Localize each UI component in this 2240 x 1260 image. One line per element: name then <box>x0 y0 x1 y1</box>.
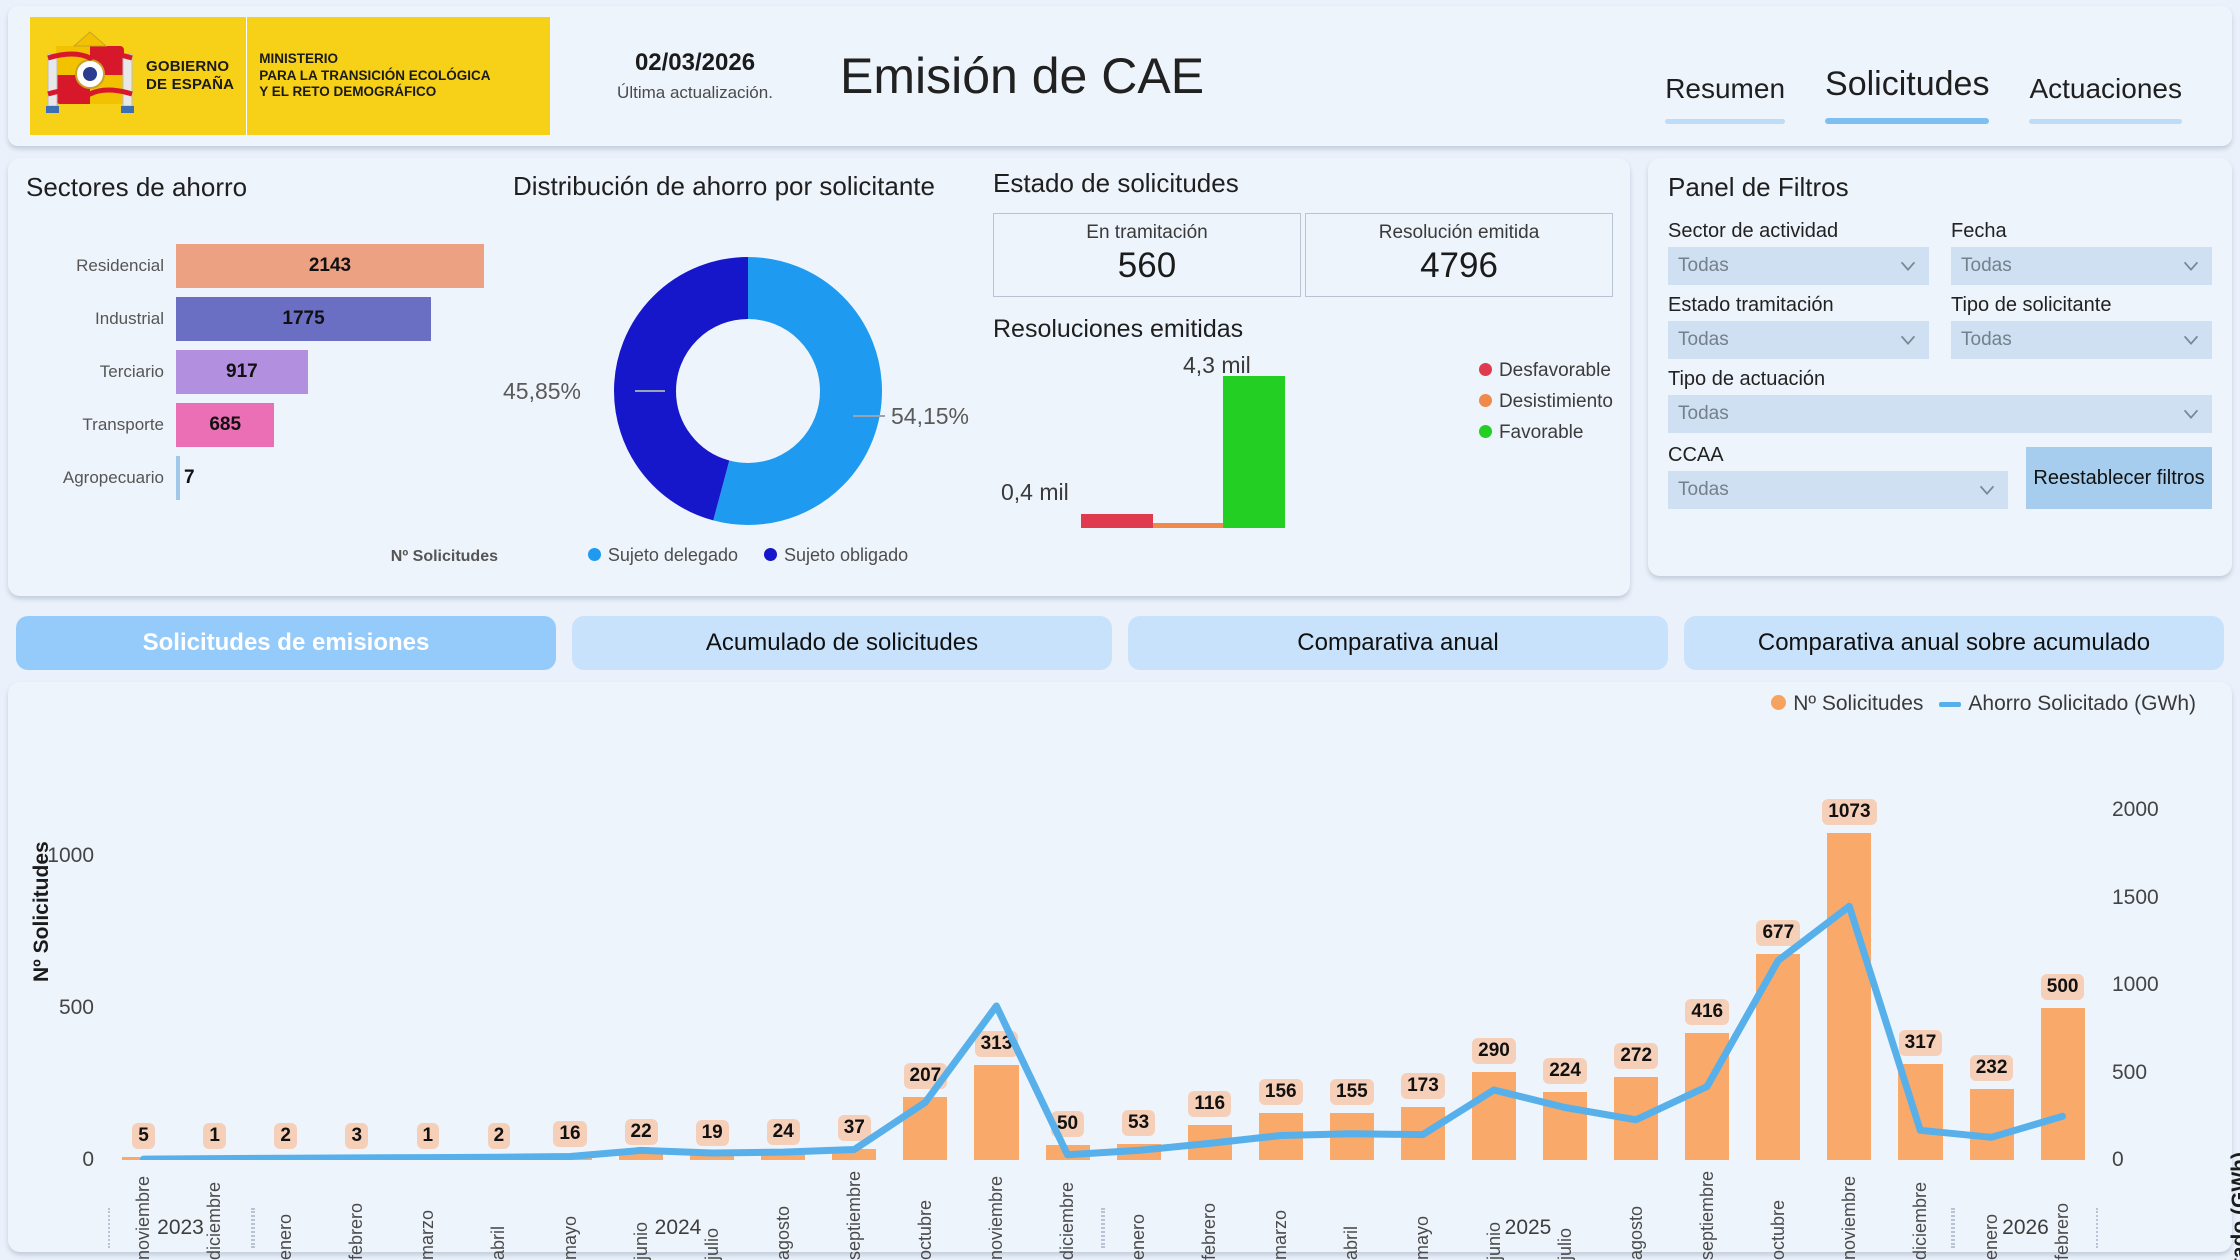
bar-column[interactable]: 313 <box>961 810 1032 1160</box>
donut-chart: 45,85% 54,15% <box>513 246 983 536</box>
bar-column[interactable]: 50 <box>1032 810 1103 1160</box>
bar-fill <box>619 1153 663 1160</box>
sector-row: Residencial2143 <box>26 243 516 289</box>
filter-ccaa-label: CCAA <box>1668 444 2008 467</box>
government-logo: GOBIERNO DE ESPAÑA MINISTERIO PARA LA TR… <box>30 17 550 135</box>
bar-fill <box>1614 1077 1658 1160</box>
bar-value-label: 53 <box>1122 1110 1155 1136</box>
chevron-down-icon <box>1897 255 1919 277</box>
bar-value-label: 116 <box>1188 1091 1231 1117</box>
bar-column[interactable]: 24 <box>748 810 819 1160</box>
bar-column[interactable]: 22 <box>606 810 677 1160</box>
filter-estado-tramitacion-select[interactable]: Todas <box>1668 321 1929 359</box>
kpi-en-tramitacion: En tramitación 560 <box>993 213 1301 297</box>
bar-fill <box>1330 1113 1374 1160</box>
bar-favorable <box>1223 376 1285 528</box>
filter-fecha-select[interactable]: Todas <box>1951 247 2212 285</box>
bar-value-label: 24 <box>767 1119 800 1145</box>
kpi-resolucion-emitida-label: Resolución emitida <box>1306 222 1612 244</box>
bar-fill <box>1472 1072 1516 1160</box>
logo-divider <box>246 17 247 135</box>
reset-filters-button[interactable]: Reestablecer filtros <box>2026 447 2212 509</box>
bar-value-label: 16 <box>553 1121 586 1147</box>
bar-fill <box>1117 1144 1161 1160</box>
chevron-down-icon <box>2180 403 2202 425</box>
bar-column[interactable]: 5 <box>108 810 179 1160</box>
ministerio-label: MINISTERIO PARA LA TRANSICIÓN ECOLÓGICA … <box>259 51 490 102</box>
y-tick-right: 1500 <box>2112 886 2159 910</box>
filter-sector-actividad: Sector de actividad Todas <box>1668 213 1929 285</box>
bar-column[interactable]: 116 <box>1174 810 1245 1160</box>
y-tick-right: 1000 <box>2112 973 2159 997</box>
tab-resumen-underline <box>1665 119 1785 124</box>
bar-column[interactable]: 224 <box>1530 810 1601 1160</box>
bar-fill <box>974 1065 1018 1160</box>
dashboard-root: GOBIERNO DE ESPAÑA MINISTERIO PARA LA TR… <box>0 0 2240 1260</box>
bar-value-label: 22 <box>625 1119 658 1145</box>
sectores-de-ahorro-card: Sectores de ahorro Residencial2143Indust… <box>26 172 516 572</box>
donut-title: Distribución de ahorro por solicitante <box>513 172 983 202</box>
bar-value-label: 1 <box>417 1123 440 1149</box>
main-chart-legend: Nº Solicitudes Ahorro Solicitado (GWh) <box>1771 692 2196 716</box>
sector-value: 2143 <box>309 255 351 277</box>
resoluciones-bars <box>1081 368 1341 528</box>
bar-value-label: 3 <box>345 1123 368 1149</box>
label-high: 4,3 mil <box>1183 352 1251 379</box>
donut-label-right: 54,15% <box>891 403 969 430</box>
filter-fecha-label: Fecha <box>1951 220 2212 243</box>
bar-column[interactable]: 416 <box>1672 810 1743 1160</box>
bar-column[interactable]: 677 <box>1743 810 1814 1160</box>
legend-item-desistimiento[interactable]: Desistimiento <box>1479 387 1613 418</box>
y-tick-left: 0 <box>82 1148 94 1172</box>
bar-column[interactable]: 232 <box>1956 810 2027 1160</box>
filter-tipo-actuacion-label: Tipo de actuación <box>1668 368 2212 391</box>
sector-row: Transporte685 <box>26 402 516 448</box>
filter-tipo-actuacion: Tipo de actuación Todas <box>1668 361 2212 433</box>
page-title: Emisión de CAE <box>840 47 1204 105</box>
sector-label: Agropecuario <box>26 468 176 488</box>
sector-bar[interactable]: 917 <box>176 350 308 394</box>
bar-fill <box>761 1153 805 1160</box>
filter-ccaa-select[interactable]: Todas <box>1668 471 2008 509</box>
bar-column[interactable]: 53 <box>1103 810 1174 1160</box>
estado-title: Estado de solicitudes <box>993 168 1613 199</box>
tab-solicitudes-underline <box>1825 118 1989 124</box>
filter-estado-tramitacion: Estado tramitación Todas <box>1668 287 1929 359</box>
chevron-down-icon <box>2180 329 2202 351</box>
bar-series: 5123121622192437207313505311615615517329… <box>108 810 2098 1160</box>
donut-label-left: 45,85% <box>503 378 581 405</box>
sector-label: Terciario <box>26 362 176 382</box>
kpi-en-tramitacion-label: En tramitación <box>994 222 1300 244</box>
bar-value-label: 224 <box>1543 1058 1587 1084</box>
resoluciones-chart: Desfavorable Desistimiento Favorable 0,4… <box>993 348 1613 528</box>
sector-label: Residencial <box>26 256 176 276</box>
sector-row: Industrial1775 <box>26 296 516 342</box>
estado-kpis: En tramitación 560 Resolución emitida 47… <box>993 213 1613 297</box>
bar-value-label: 500 <box>2041 974 2085 1000</box>
sector-row: Terciario917 <box>26 349 516 395</box>
bar-value-label: 173 <box>1401 1073 1445 1099</box>
legend-item-ahorro-solicitado[interactable]: Ahorro Solicitado (GWh) <box>1939 692 2196 716</box>
distribucion-ahorro-card: Distribución de ahorro por solicitante 4… <box>513 172 983 572</box>
bar-value-label: 232 <box>1970 1055 2014 1081</box>
bar-fill <box>1259 1113 1303 1160</box>
bar-value-label: 207 <box>904 1063 948 1089</box>
sector-label: Transporte <box>26 415 176 435</box>
bar-column[interactable]: 19 <box>677 810 748 1160</box>
sector-bar[interactable]: 1775 <box>176 297 431 341</box>
year-group-label: 2024 <box>253 1208 1103 1248</box>
tab-actuaciones-underline <box>2029 119 2182 124</box>
resoluciones-legend: Desfavorable Desistimiento Favorable <box>1479 356 1613 448</box>
y-tick-right: 2000 <box>2112 798 2159 822</box>
sector-label: Industrial <box>26 309 176 329</box>
tab-solicitudes-label: Solicitudes <box>1825 65 1989 118</box>
sector-row: Agropecuario7 <box>26 455 516 501</box>
bar-column[interactable]: 173 <box>1387 810 1458 1160</box>
bar-value-label: 416 <box>1685 999 1729 1025</box>
bar-column[interactable]: 272 <box>1601 810 1672 1160</box>
bar-desistimiento <box>1153 523 1223 528</box>
sector-value: 917 <box>226 361 258 383</box>
last-update-caption: Última actualización. <box>590 83 800 103</box>
chevron-down-icon <box>1976 479 1998 501</box>
filter-tipo-solicitante-label: Tipo de solicitante <box>1951 294 2212 317</box>
bar-fill <box>1046 1145 1090 1160</box>
donut-legend-item-obligado[interactable]: Sujeto obligado <box>764 545 908 566</box>
filter-tipo-actuacion-select[interactable]: Todas <box>1668 395 2212 433</box>
filter-ccaa: CCAA Todas <box>1668 437 2008 509</box>
filters-grid: Sector de actividad Todas Fecha Todas Es… <box>1668 213 2212 433</box>
bar-value-label: 155 <box>1330 1079 1374 1105</box>
resoluciones-title: Resoluciones emitidas <box>993 315 1613 344</box>
bar-column[interactable]: 156 <box>1245 810 1316 1160</box>
tab-actuaciones[interactable]: Actuaciones <box>2009 73 2202 138</box>
bar-column[interactable]: 1 <box>179 810 250 1160</box>
bar-fill <box>2041 1008 2085 1160</box>
sector-value: 7 <box>184 467 195 489</box>
bar-value-label: 2 <box>274 1123 297 1149</box>
bar-value-label: 37 <box>838 1115 871 1141</box>
bar-column[interactable]: 16 <box>534 810 605 1160</box>
bar-value-label: 2 <box>488 1123 511 1149</box>
y-tick-left: 1000 <box>47 844 94 868</box>
filters-title: Panel de Filtros <box>1668 172 2212 203</box>
donut-svg <box>513 246 983 536</box>
tab-solicitudes[interactable]: Solicitudes <box>1805 65 2009 138</box>
bar-column[interactable]: 2 <box>250 810 321 1160</box>
app-header: GOBIERNO DE ESPAÑA MINISTERIO PARA LA TR… <box>8 6 2232 146</box>
top-tabs: Resumen Solicitudes Actuaciones <box>1645 65 2202 138</box>
bar-column[interactable]: 290 <box>1458 810 1529 1160</box>
chart-tab-acumulado-solicitudes[interactable]: Acumulado de solicitudes <box>572 616 1112 670</box>
tab-actuaciones-label: Actuaciones <box>2029 73 2182 119</box>
filter-tipo-solicitante-select[interactable]: Todas <box>1951 321 2212 359</box>
sector-bar[interactable]: 2143 <box>176 244 484 288</box>
chart-tab-solicitudes-emisiones[interactable]: Solicitudes de emisiones <box>16 616 556 670</box>
sectores-axis-caption: Nº Solicitudes <box>391 548 498 566</box>
bar-fill <box>1970 1089 2014 1160</box>
bar-column[interactable]: 2 <box>463 810 534 1160</box>
chevron-down-icon <box>1897 329 1919 351</box>
y-tick-right: 500 <box>2112 1061 2147 1085</box>
filters-bottom-row: CCAA Todas Reestablecer filtros <box>1668 437 2212 509</box>
bar-column[interactable]: 1 <box>392 810 463 1160</box>
filters-panel: Panel de Filtros Sector de actividad Tod… <box>1648 158 2232 576</box>
estado-solicitudes-card: Estado de solicitudes En tramitación 560… <box>993 168 1613 578</box>
bar-fill <box>832 1149 876 1160</box>
y-tick-right: 0 <box>2112 1148 2124 1172</box>
legend-item-desfavorable[interactable]: Desfavorable <box>1479 356 1613 387</box>
bar-value-label: 1 <box>203 1123 226 1149</box>
bar-column[interactable]: 155 <box>1316 810 1387 1160</box>
y-tick-left: 500 <box>59 996 94 1020</box>
bar-value-label: 317 <box>1899 1030 1943 1056</box>
bar-value-label: 1073 <box>1822 799 1876 825</box>
chart-tab-bar: Solicitudes de emisiones Acumulado de so… <box>16 616 2224 670</box>
main-chart-panel: Nº Solicitudes Ahorro Solicitado (GWh) N… <box>8 682 2232 1252</box>
bar-column[interactable]: 1073 <box>1814 810 1885 1160</box>
legend-item-favorable[interactable]: Favorable <box>1479 418 1613 449</box>
chart-tab-comparativa-anual-acumulado[interactable]: Comparativa anual sobre acumulado <box>1684 616 2224 670</box>
spain-coat-of-arms-icon <box>44 24 136 128</box>
bar-fill <box>1543 1092 1587 1160</box>
bar-value-label: 5 <box>132 1123 155 1149</box>
y-axis-right-title: Ahorro Solicitado (GWh) <box>2228 1152 2240 1260</box>
bar-fill <box>1685 1033 1729 1160</box>
chart-tab-comparativa-anual[interactable]: Comparativa anual <box>1128 616 1668 670</box>
last-update-block: 02/03/2026 Última actualización. <box>590 49 800 103</box>
bar-fill <box>1756 954 1800 1160</box>
gobierno-label: GOBIERNO DE ESPAÑA <box>146 58 234 95</box>
kpi-resolucion-emitida: Resolución emitida 4796 <box>1305 213 1613 297</box>
donut-legend-item-delegado[interactable]: Sujeto delegado <box>588 545 738 566</box>
sectores-bar-list: Residencial2143Industrial1775Terciario91… <box>26 243 516 501</box>
bar-value-label: 50 <box>1051 1111 1084 1137</box>
tab-resumen-label: Resumen <box>1665 73 1785 119</box>
sectores-title: Sectores de ahorro <box>26 172 516 203</box>
sector-bar[interactable]: 7 <box>176 456 180 500</box>
bar-column[interactable]: 207 <box>890 810 961 1160</box>
bar-column[interactable]: 317 <box>1885 810 1956 1160</box>
sector-value: 685 <box>209 414 241 436</box>
bar-column[interactable]: 500 <box>2027 810 2098 1160</box>
year-group-label: 2023 <box>108 1208 253 1248</box>
year-group-label: 2026 <box>1953 1208 2098 1248</box>
filter-sector-actividad-select[interactable]: Todas <box>1668 247 1929 285</box>
filter-estado-tramitacion-label: Estado tramitación <box>1668 294 1929 317</box>
bar-column[interactable]: 3 <box>321 810 392 1160</box>
year-group-label: 2025 <box>1103 1208 1953 1248</box>
x-axis-year-groups: 2023202420252026 <box>108 1208 2098 1248</box>
kpi-resolucion-emitida-value: 4796 <box>1306 246 1612 286</box>
tab-resumen[interactable]: Resumen <box>1645 73 1805 138</box>
bar-value-label: 156 <box>1259 1079 1303 1105</box>
bar-desfavorable <box>1081 514 1153 528</box>
kpi-en-tramitacion-value: 560 <box>994 246 1300 286</box>
bar-fill <box>1188 1125 1232 1160</box>
bar-value-label: 272 <box>1614 1043 1658 1069</box>
main-plot-area: 05001000 0500100015002000 51231216221924… <box>108 750 2098 1160</box>
sector-value: 1775 <box>282 308 324 330</box>
bar-fill <box>1827 833 1871 1160</box>
filter-tipo-solicitante: Tipo de solicitante Todas <box>1951 287 2212 359</box>
bar-fill <box>1401 1107 1445 1160</box>
last-update-date: 02/03/2026 <box>590 49 800 77</box>
summary-cards-panel: Sectores de ahorro Residencial2143Indust… <box>8 158 1630 596</box>
bar-value-label: 313 <box>975 1031 1019 1057</box>
bar-value-label: 677 <box>1756 920 1800 946</box>
bar-fill <box>903 1097 947 1160</box>
donut-legend: Sujeto delegado Sujeto obligado <box>513 545 983 566</box>
filter-fecha: Fecha Todas <box>1951 213 2212 285</box>
bar-column[interactable]: 37 <box>819 810 890 1160</box>
label-low: 0,4 mil <box>1001 479 1069 506</box>
bar-fill <box>1898 1064 1942 1160</box>
bar-value-label: 19 <box>696 1120 729 1146</box>
filter-sector-actividad-label: Sector de actividad <box>1668 220 1929 243</box>
bar-value-label: 290 <box>1472 1038 1516 1064</box>
chevron-down-icon <box>2180 255 2202 277</box>
sector-bar[interactable]: 685 <box>176 403 274 447</box>
legend-item-n-solicitudes[interactable]: Nº Solicitudes <box>1771 692 1923 716</box>
